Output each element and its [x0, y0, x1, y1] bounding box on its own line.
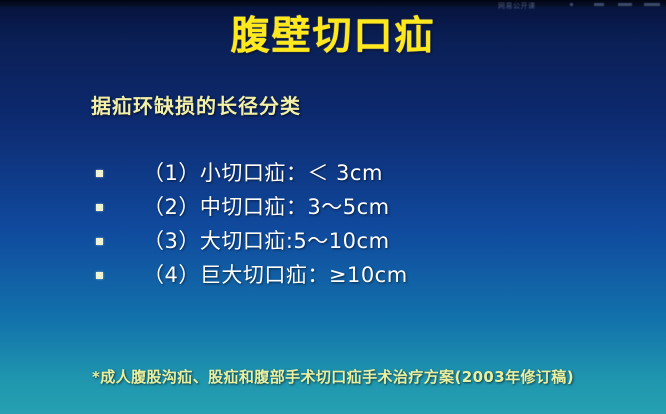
list-item-label: （4）巨大切口疝：≥10cm	[143, 260, 408, 290]
artifact-dash-3	[618, 3, 632, 6]
list-item-label: （3）大切口疝:5～10cm	[143, 226, 390, 256]
square-bullet-icon	[96, 238, 103, 245]
artifact-dash-1	[570, 3, 573, 6]
list-item-label: （1）小切口疝：＜ 3cm	[143, 158, 383, 188]
list-item: （1）小切口疝：＜ 3cm	[0, 158, 666, 192]
artifact-dash-4	[644, 3, 660, 6]
artifact-dash-2	[594, 3, 604, 6]
square-bullet-icon	[96, 272, 103, 279]
classification-list: （1）小切口疝：＜ 3cm （2）中切口疝：3～5cm （3）大切口疝:5～10…	[0, 158, 666, 294]
list-item-label: （2）中切口疝：3～5cm	[143, 192, 390, 222]
list-item: （3）大切口疝:5～10cm	[0, 226, 666, 260]
list-item: （4）巨大切口疝：≥10cm	[0, 260, 666, 294]
slide-title: 腹壁切口疝	[0, 13, 666, 61]
square-bullet-icon	[96, 204, 103, 211]
square-bullet-icon	[96, 170, 103, 177]
slide-footnote: *成人腹股沟疝、股疝和腹部手术切口疝手术治疗方案(2003年修订稿)	[0, 366, 666, 388]
list-item: （2）中切口疝：3～5cm	[0, 192, 666, 226]
presentation-slide: 网易公开课 腹壁切口疝 据疝环缺损的长径分类 （1）小切口疝：＜ 3cm （2）…	[0, 0, 666, 414]
slide-subtitle: 据疝环缺损的长径分类	[91, 92, 301, 120]
watermark-text: 网易公开课	[498, 1, 536, 11]
video-artifact-overlay: 网易公开课	[498, 1, 666, 11]
